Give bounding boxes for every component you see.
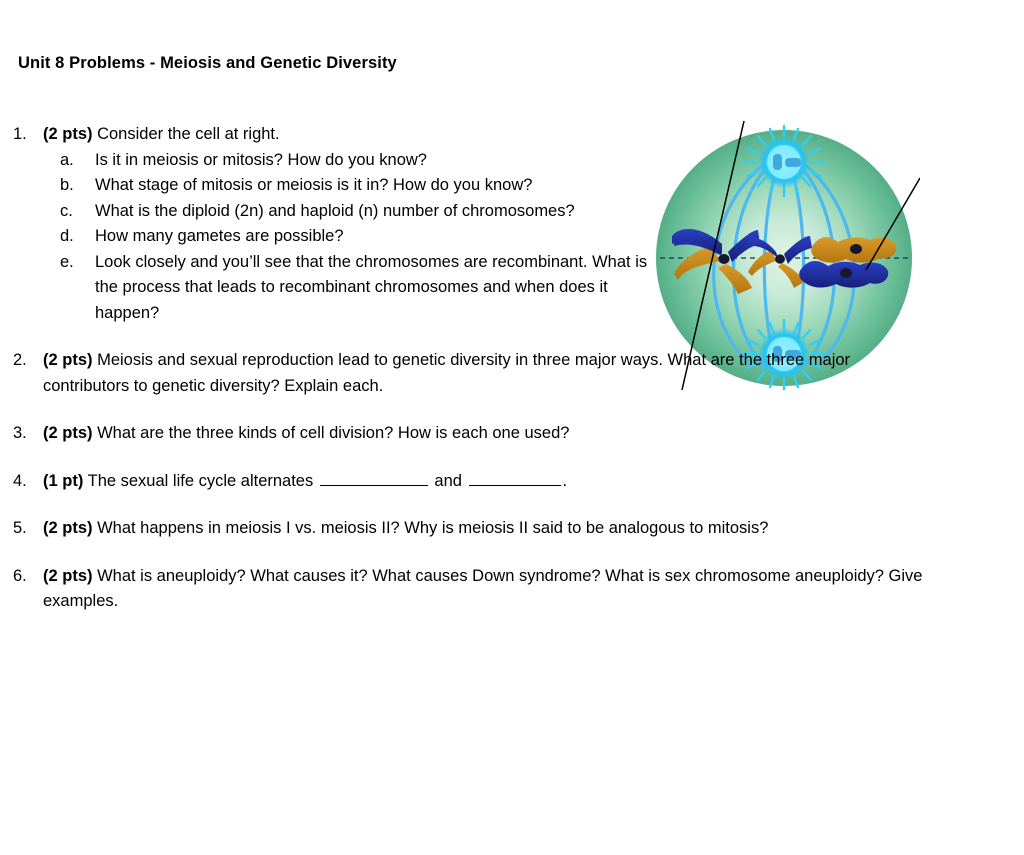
question-4-text: (1 pt) The sexual life cycle alternates …: [43, 469, 923, 495]
question-1-subitem-c-text: What is the diploid (2n) and haploid (n)…: [95, 202, 575, 220]
question-3-body: What are the three kinds of cell divisio…: [93, 424, 570, 442]
question-4-body-after: .: [563, 472, 568, 490]
question-5-points: (2 pts): [43, 519, 93, 537]
question-5-text: (2 pts) What happens in meiosis I vs. me…: [43, 516, 923, 542]
question-1-subitem-c-letter: c.: [60, 199, 73, 225]
question-4-points: (1 pt): [43, 472, 83, 490]
question-4: 4. (1 pt) The sexual life cycle alternat…: [0, 469, 1024, 495]
question-3: 3. (2 pts) What are the three kinds of c…: [0, 421, 1024, 447]
question-1-body: Consider the cell at right.: [93, 125, 280, 143]
spacer: [0, 447, 1024, 469]
question-1-subitem-a: a. Is it in meiosis or mitosis? How do y…: [43, 148, 655, 174]
question-6-points: (2 pts): [43, 567, 93, 585]
question-6-number: 6.: [13, 564, 27, 590]
question-4-body-middle: and: [430, 472, 467, 490]
question-6-body: What is aneuploidy? What causes it? What…: [43, 567, 922, 611]
question-1-subitem-b-letter: b.: [60, 173, 74, 199]
question-4-body-before: The sexual life cycle alternates: [83, 472, 317, 490]
question-5: 5. (2 pts) What happens in meiosis I vs.…: [0, 516, 1024, 542]
question-2-body: Meiosis and sexual reproduction lead to …: [43, 351, 850, 395]
question-2: 2. (2 pts) Meiosis and sexual reproducti…: [0, 348, 1024, 399]
question-1-subitem-c: c. What is the diploid (2n) and haploid …: [43, 199, 655, 225]
question-5-number: 5.: [13, 516, 27, 542]
spacer: [0, 326, 1024, 348]
question-6: 6. (2 pts) What is aneuploidy? What caus…: [0, 564, 1024, 615]
question-1-subitem-d-text: How many gametes are possible?: [95, 227, 344, 245]
question-2-points: (2 pts): [43, 351, 93, 369]
question-1-subitem-b: b. What stage of mitosis or meiosis is i…: [43, 173, 655, 199]
question-1-text: (2 pts) Consider the cell at right.: [43, 122, 643, 148]
question-4-number: 4.: [13, 469, 27, 495]
spacer: [0, 494, 1024, 516]
question-1-subitem-a-letter: a.: [60, 148, 74, 174]
question-list: 1. (2 pts) Consider the cell at right. a…: [0, 122, 1024, 615]
question-3-points: (2 pts): [43, 424, 93, 442]
answer-blank-1[interactable]: [320, 469, 428, 486]
question-1-subitem-b-text: What stage of mitosis or meiosis is it i…: [95, 176, 532, 194]
question-1-subitem-d-letter: d.: [60, 224, 74, 250]
page-title: Unit 8 Problems - Meiosis and Genetic Di…: [18, 54, 397, 73]
question-1: 1. (2 pts) Consider the cell at right. a…: [0, 122, 1024, 326]
answer-blank-2[interactable]: [469, 469, 561, 486]
question-1-number: 1.: [13, 122, 27, 148]
question-5-body: What happens in meiosis I vs. meiosis II…: [93, 519, 769, 537]
question-1-points: (2 pts): [43, 125, 93, 143]
question-6-text: (2 pts) What is aneuploidy? What causes …: [43, 564, 923, 615]
question-1-subitem-e-letter: e.: [60, 250, 74, 276]
spacer: [0, 542, 1024, 564]
spacer: [0, 399, 1024, 421]
question-3-text: (2 pts) What are the three kinds of cell…: [43, 421, 923, 447]
question-1-subitem-e-text: Look closely and you’ll see that the chr…: [95, 253, 647, 322]
document-page: Unit 8 Problems - Meiosis and Genetic Di…: [0, 0, 1024, 855]
question-1-subitem-a-text: Is it in meiosis or mitosis? How do you …: [95, 151, 427, 169]
question-2-number: 2.: [13, 348, 27, 374]
question-3-number: 3.: [13, 421, 27, 447]
question-2-text: (2 pts) Meiosis and sexual reproduction …: [43, 348, 923, 399]
question-1-subitem-e: e. Look closely and you’ll see that the …: [43, 250, 655, 327]
question-1-subitem-d: d. How many gametes are possible?: [43, 224, 655, 250]
question-1-sublist: a. Is it in meiosis or mitosis? How do y…: [43, 148, 1024, 327]
